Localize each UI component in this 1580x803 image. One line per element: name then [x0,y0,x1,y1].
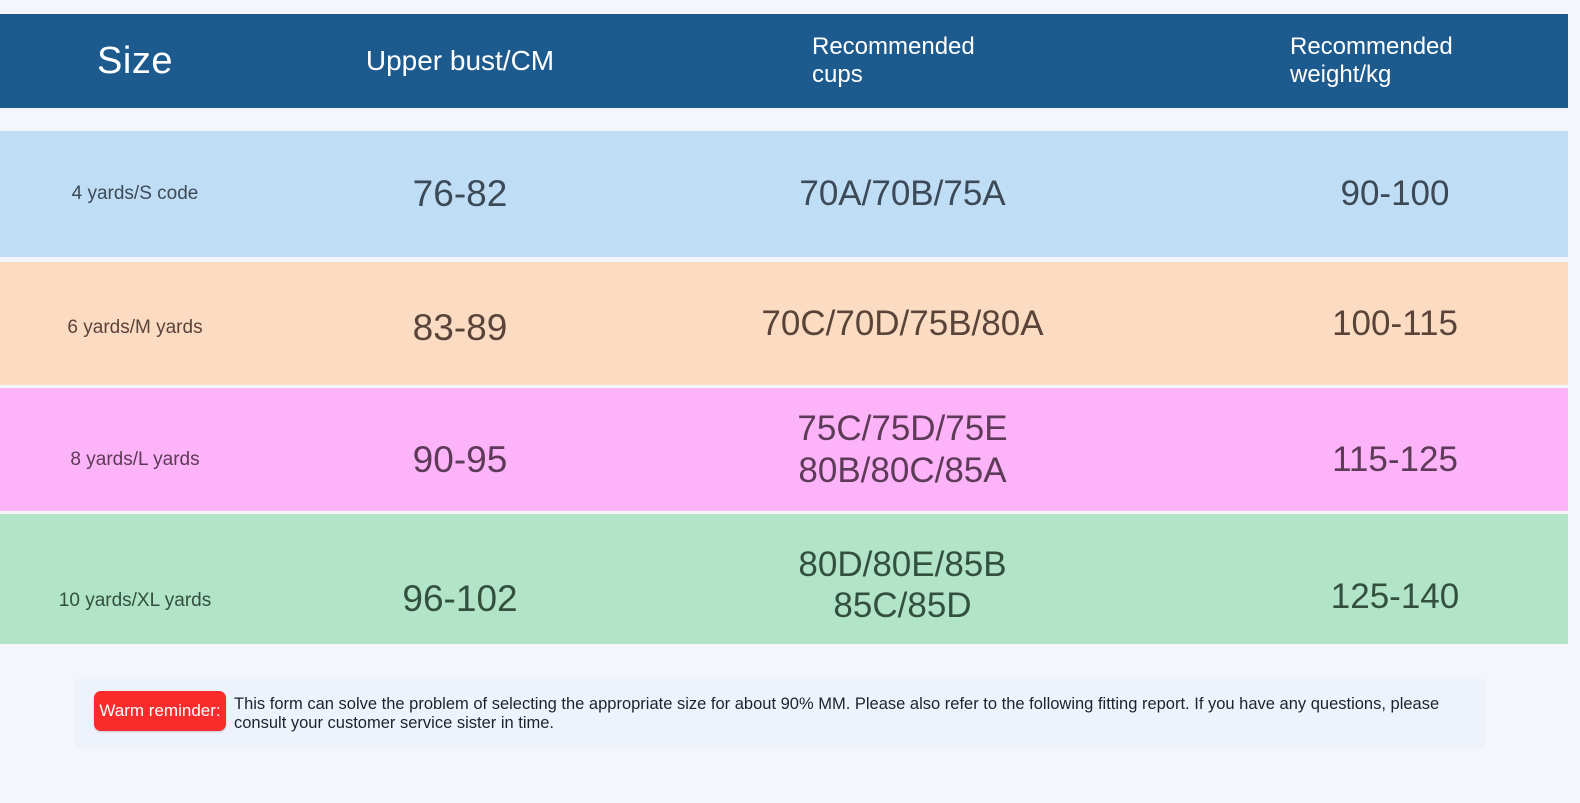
cell-size-value: 10 yards/XL yards [59,590,211,612]
cell-upper-bust-value: 96-102 [402,578,517,620]
warm-reminder-badge: Warm reminder: [94,691,226,731]
cell-recommended-cups: 70A/70B/75A [700,131,1105,259]
size-chart-sheet: Size Upper bust/CM Recommended cups Reco… [0,0,1580,803]
cell-size: 10 yards/XL yards [0,514,270,666]
cell-recommended-cups: 75C/75D/75E 80B/80C/85A [700,388,1105,511]
cell-recommended-weight: 115-125 [1230,388,1560,521]
cell-size: 8 yards/L yards [0,388,270,521]
cell-cups-line-1: 80D/80E/85B [798,544,1006,585]
cell-upper-bust: 76-82 [280,131,640,261]
warm-reminder-badge-label: Warm reminder: [99,701,220,721]
cell-upper-bust-value: 76-82 [413,173,508,215]
cell-upper-bust: 83-89 [280,262,640,389]
cell-cups-line-2: 85C/85D [833,585,971,626]
cell-upper-bust-value: 90-95 [413,439,508,481]
cell-cups-line-2: 80B/80C/85A [798,450,1006,491]
cell-recommended-weight-value: 125-140 [1331,577,1459,617]
cell-recommended-weight-value: 100-115 [1332,304,1458,344]
column-header-upper-bust: Upper bust/CM [280,14,640,108]
column-header-weight-line-1: Recommended [1290,33,1453,61]
cell-cups-line-1: 70C/70D/75B/80A [761,303,1043,344]
warm-reminder-text: This form can solve the problem of selec… [234,695,1464,733]
column-header-size-label: Size [97,40,173,83]
column-header-cups-line-1: Recommended [812,33,975,61]
table-row: 10 yards/XL yards 96-102 80D/80E/85B 85C… [0,514,1568,644]
warm-reminder-panel: Warm reminder: This form can solve the p… [74,677,1486,749]
table-row: 6 yards/M yards 83-89 70C/70D/75B/80A 10… [0,262,1568,385]
column-header-recommended-weight: Recommended weight/kg [1290,14,1570,108]
cell-size: 4 yards/S code [0,131,270,263]
column-header-size: Size [0,14,270,108]
cell-recommended-cups: 70C/70D/75B/80A [700,262,1105,385]
column-header-recommended-cups-label: Recommended cups [812,33,975,89]
column-header-upper-bust-label: Upper bust/CM [366,45,554,77]
table-header-row: Size Upper bust/CM Recommended cups Reco… [0,14,1568,108]
cell-upper-bust: 90-95 [280,388,640,521]
cell-recommended-weight-value: 115-125 [1332,440,1458,480]
cell-upper-bust: 96-102 [280,514,640,664]
cell-size-value: 6 yards/M yards [67,317,202,339]
cell-size: 6 yards/M yards [0,262,270,389]
table-row: 4 yards/S code 76-82 70A/70B/75A 90-100 [0,131,1568,257]
cell-size-value: 4 yards/S code [72,183,199,205]
cell-recommended-weight-value: 90-100 [1341,174,1450,214]
table-row: 8 yards/L yards 90-95 75C/75D/75E 80B/80… [0,388,1568,511]
cell-cups-line-1: 70A/70B/75A [799,173,1005,214]
column-header-weight-line-2: weight/kg [1290,61,1453,89]
cell-recommended-weight: 90-100 [1230,131,1560,259]
cell-recommended-weight: 125-140 [1230,514,1560,662]
cell-size-value: 8 yards/L yards [70,449,199,471]
cell-cups-line-1: 75C/75D/75E [797,408,1007,449]
column-header-cups-line-2: cups [812,61,975,89]
column-header-recommended-cups: Recommended cups [812,14,1142,108]
cell-recommended-cups: 80D/80E/85B 85C/85D [700,514,1105,650]
column-header-recommended-weight-label: Recommended weight/kg [1290,33,1453,89]
cell-recommended-weight: 100-115 [1230,262,1560,385]
cell-upper-bust-value: 83-89 [413,307,508,349]
